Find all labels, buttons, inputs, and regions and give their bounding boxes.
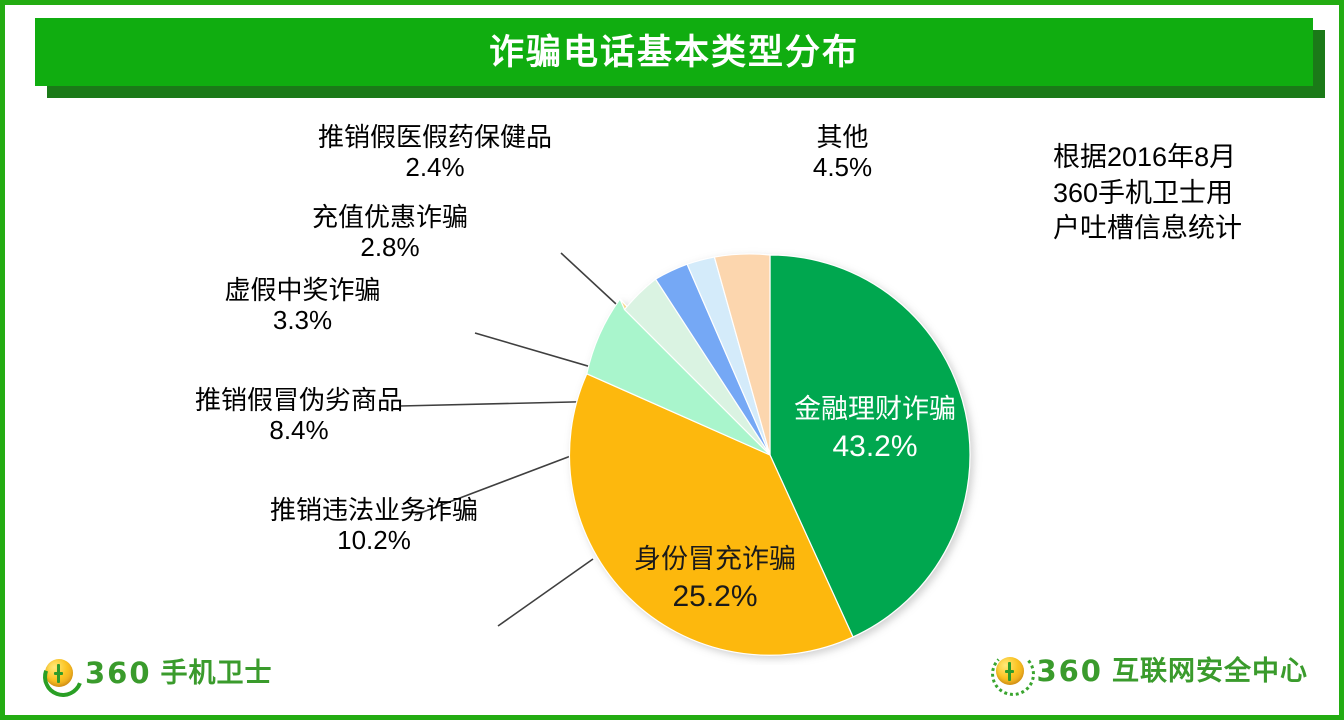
title-banner: 诈骗电话基本类型分布 bbox=[35, 18, 1325, 98]
pie-label-weifa-name: 推销违法业务诈骗 bbox=[270, 495, 478, 525]
pie-label-other-value: 4.5% bbox=[765, 152, 920, 182]
pie-label-other-name: 其他 bbox=[816, 122, 868, 152]
pie-label-chongzhi-name: 充值优惠诈骗 bbox=[312, 202, 468, 232]
pie-label-jiayi-name: 推销假医假药保健品 bbox=[318, 122, 552, 152]
pie-label-jiayi: 推销假医假药保健品 2.4% bbox=[305, 122, 565, 182]
pie-label-weilie: 推销假冒伪劣商品 8.4% bbox=[183, 385, 415, 445]
pie-label-shenfen-name: 身份冒充诈骗 bbox=[625, 543, 805, 575]
pie-label-chongzhi: 充值优惠诈骗 2.8% bbox=[295, 202, 485, 262]
logo-360-security-center: 360 互联网安全中心 bbox=[993, 654, 1308, 688]
pie-label-zhongjiang-value: 3.3% bbox=[205, 305, 400, 335]
page-title: 诈骗电话基本类型分布 bbox=[489, 35, 859, 70]
pie-label-weilie-value: 8.4% bbox=[183, 415, 415, 445]
pie-label-weilie-name: 推销假冒伪劣商品 bbox=[195, 385, 403, 415]
logo-360-number-left: 360 bbox=[85, 656, 152, 690]
title-banner-body: 诈骗电话基本类型分布 bbox=[35, 18, 1313, 86]
shield-ball-icon bbox=[42, 656, 76, 690]
wreath-ball-icon bbox=[993, 654, 1027, 688]
leader-line-weifa bbox=[498, 559, 593, 626]
pie-label-shenfen-value: 25.2% bbox=[625, 579, 805, 615]
pie-label-other: 其他 4.5% bbox=[765, 122, 920, 182]
logo-360-mobile-guard: 360 手机卫士 bbox=[42, 656, 273, 690]
slide-page: 诈骗电话基本类型分布 根据2016年8月 360手机卫士用 户吐槽信息统计 bbox=[0, 0, 1344, 720]
pie-chart: 推销假医假药保健品 2.4% 充值优惠诈骗 2.8% 虚假中奖诈骗 3.3% 推… bbox=[5, 105, 1339, 665]
pie-label-jinrong-name: 金融理财诈骗 bbox=[780, 393, 970, 425]
pie-label-weifa-value: 10.2% bbox=[250, 525, 498, 555]
pie-label-chongzhi-value: 2.8% bbox=[295, 232, 485, 262]
pie-label-jiayi-value: 2.4% bbox=[305, 152, 565, 182]
logo-360-text-right: 互联网安全中心 bbox=[1112, 658, 1308, 685]
pie-label-zhongjiang-name: 虚假中奖诈骗 bbox=[224, 275, 380, 305]
footer: 360 手机卫士 360 互联网安全中心 bbox=[10, 648, 1344, 710]
pie-label-shenfen: 身份冒充诈骗 25.2% bbox=[625, 543, 805, 615]
pie-label-jinrong-value: 43.2% bbox=[780, 429, 970, 465]
logo-360-number-right: 360 bbox=[1036, 654, 1103, 688]
pie-label-zhongjiang: 虚假中奖诈骗 3.3% bbox=[205, 275, 400, 335]
pie-label-jinrong: 金融理财诈骗 43.2% bbox=[780, 393, 970, 465]
logo-360-text-left: 手机卫士 bbox=[161, 660, 273, 687]
pie-label-weifa: 推销违法业务诈骗 10.2% bbox=[250, 495, 498, 555]
